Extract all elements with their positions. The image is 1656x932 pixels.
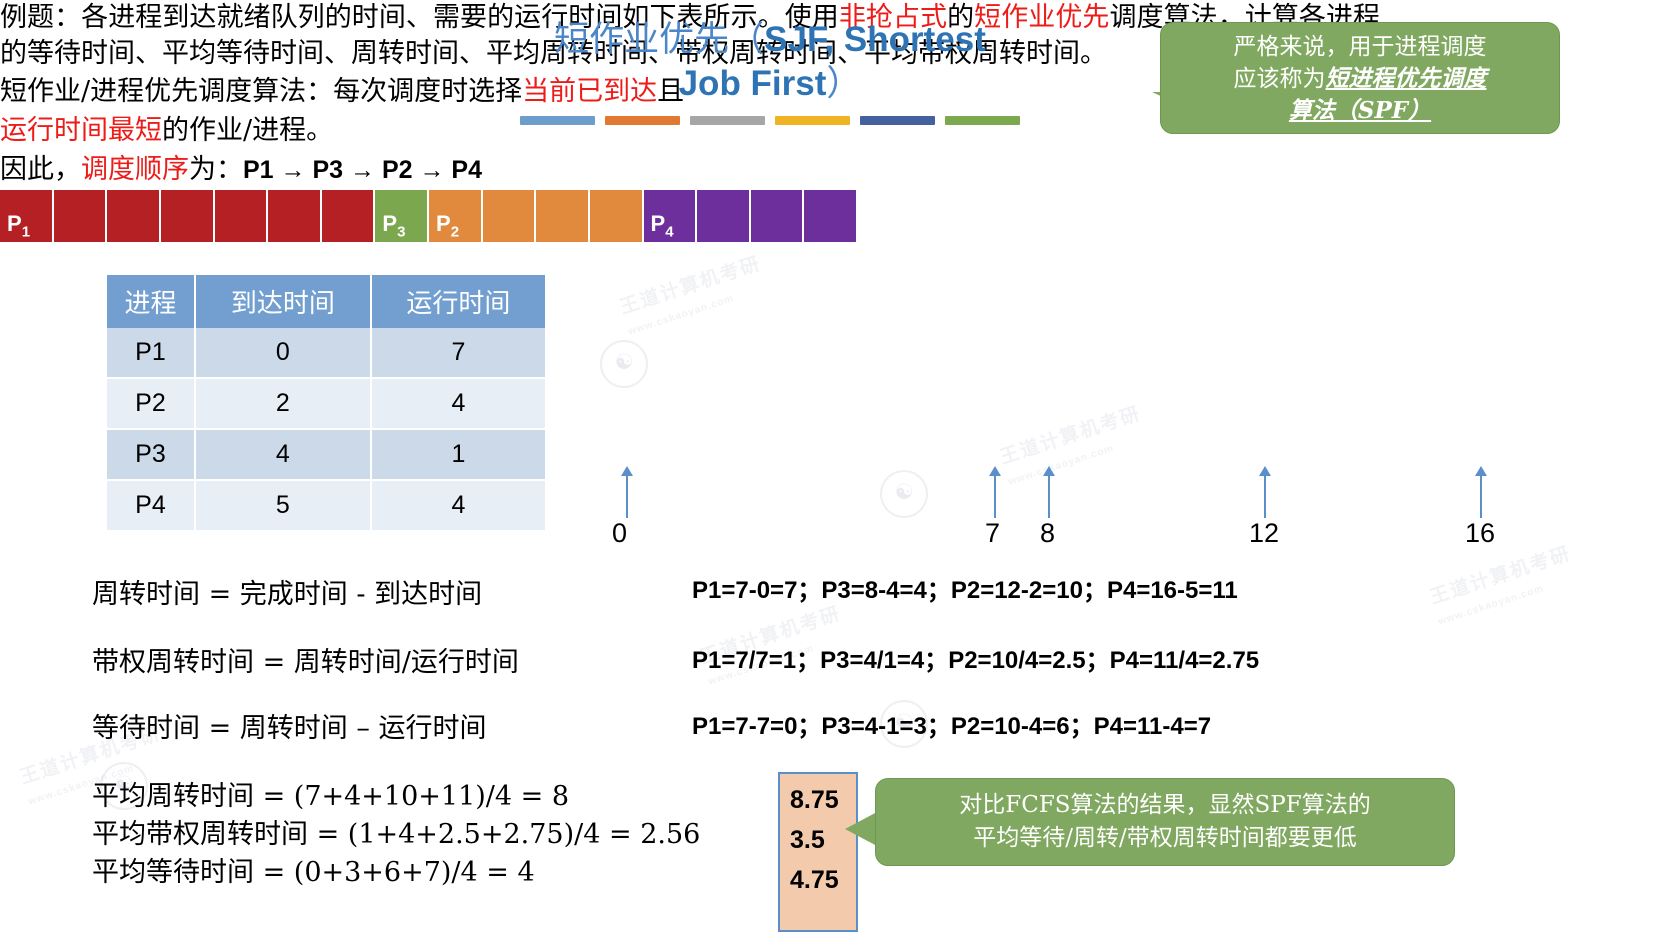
axis-label-7: 7 [985, 518, 1000, 549]
cell-process: P2 [107, 378, 195, 429]
algo-line2-highlight: 运行时间最短 [0, 115, 162, 146]
cell-burst: 4 [371, 480, 545, 531]
algo-schedule-order: P1 → P3 → P2 → P4 [243, 156, 482, 184]
axis-label-0: 0 [612, 518, 627, 549]
calc-waiting: P1=7-7=0；P3=4-1=3；P2=10-4=6；P4=11-4=7 [692, 706, 1211, 741]
table-row: P2 2 4 [107, 378, 545, 429]
process-table: 进程 到达时间 运行时间 P1 0 7 P2 2 4 P3 4 1 P4 5 4 [107, 275, 545, 532]
callout-top-line2-plain: 应该称为 [1234, 66, 1326, 92]
gantt-label-p3: P3 [382, 211, 405, 240]
axis-tick-16 [1480, 474, 1482, 518]
gantt-cell-12: P4 [644, 190, 696, 242]
watermark-seal-icon: ☯ [600, 340, 648, 388]
cell-arrival: 4 [195, 429, 371, 480]
cell-burst: 4 [371, 378, 545, 429]
callout-top: 严格来说，用于进程调度 应该称为短进程优先调度 算法（SPF） [1160, 22, 1560, 134]
title-en-line2: Job First [679, 64, 827, 103]
algo-line3-mid: 为： [189, 154, 243, 185]
gantt-cell-9 [483, 190, 535, 242]
gantt-cell-14 [751, 190, 803, 242]
axis-label-12: 12 [1249, 518, 1279, 549]
rule-bar-3 [690, 116, 765, 125]
formula-avg-turnaround: 平均周转时间 = (7+4+10+11)/4 = 8 [92, 774, 569, 813]
result-values-box: 8.75 3.5 4.75 [778, 772, 858, 932]
table-row: P3 4 1 [107, 429, 545, 480]
gantt-cell-8: P2 [429, 190, 481, 242]
callout-bottom-line1: 对比FCFS算法的结果，显然SPF算法的 [888, 789, 1442, 822]
gantt-cell-3 [161, 190, 213, 242]
col-header-burst: 运行时间 [371, 275, 545, 328]
gantt-cell-2 [107, 190, 159, 242]
algo-line3-highlight: 调度顺序 [81, 154, 189, 185]
gantt-cell-10 [536, 190, 588, 242]
callout-top-line3-emph: 算法（SPF） [1289, 97, 1431, 124]
gantt-cell-6 [322, 190, 374, 242]
gantt-label-p1: P1 [7, 211, 30, 240]
axis-tick-7 [994, 474, 996, 518]
formula-weighted-turnaround: 带权周转时间 = 周转时间/运行时间 [92, 640, 519, 679]
gantt-cell-0: P1 [0, 190, 52, 242]
callout-bottom-tail-icon [845, 812, 877, 846]
algo-line3-prefix: 因此， [0, 154, 81, 185]
cell-arrival: 0 [195, 328, 371, 378]
title-underline-bars [520, 116, 1020, 125]
callout-top-line2-emph: 短进程优先调度 [1326, 65, 1487, 92]
table-header-row: 进程 到达时间 运行时间 [107, 275, 545, 328]
watermark-seal-icon: ☯ [880, 470, 928, 518]
cell-process: P3 [107, 429, 195, 480]
cell-burst: 1 [371, 429, 545, 480]
gantt-cell-5 [268, 190, 320, 242]
callout-top-line1: 严格来说，用于进程调度 [1171, 32, 1549, 63]
rule-bar-5 [860, 116, 935, 125]
gantt-label-p4: P4 [651, 211, 674, 240]
rule-bar-2 [605, 116, 680, 125]
title-cn: 短作业优先（ [554, 20, 764, 60]
gantt-cell-11 [590, 190, 642, 242]
watermark: 王道计算机考研www.cskaoyan.com [616, 248, 771, 340]
axis-label-8: 8 [1040, 518, 1055, 549]
title-cn-close: ） [826, 64, 861, 104]
gantt-cell-7: P3 [375, 190, 427, 242]
rule-bar-4 [775, 116, 850, 125]
cell-process: P1 [107, 328, 195, 378]
formula-waiting: 等待时间 = 周转时间 – 运行时间 [92, 706, 486, 745]
gantt-cell-4 [215, 190, 267, 242]
formula-avg-waiting: 平均等待时间 = (0+3+6+7)/4 = 4 [92, 850, 535, 889]
calc-turnaround: P1=7-0=7；P3=8-4=4；P2=12-2=10；P4=16-5=11 [692, 570, 1238, 605]
cell-burst: 7 [371, 328, 545, 378]
algo-line2-plain: 的作业/进程。 [162, 115, 333, 146]
watermark: 王道计算机考研www.cskaoyan.com [1426, 538, 1581, 630]
cell-arrival: 2 [195, 378, 371, 429]
axis-tick-12 [1264, 474, 1266, 518]
callout-bottom: 对比FCFS算法的结果，显然SPF算法的 平均等待/周转/带权周转时间都要更低 [875, 778, 1455, 866]
page-title: 短作业优先（SJF, Shortest Job First） [430, 18, 1110, 106]
cell-process: P4 [107, 480, 195, 531]
gantt-chart: P1 P3 P2 P4 [0, 190, 856, 242]
callout-bottom-line2: 平均等待/周转/带权周转时间都要更低 [888, 822, 1442, 855]
title-en-line1: SJF, Shortest [764, 20, 986, 59]
col-header-arrival: 到达时间 [195, 275, 371, 328]
table-row: P1 0 7 [107, 328, 545, 378]
formula-avg-weighted-turnaround: 平均带权周转时间 = (1+4+2.5+2.75)/4 = 2.56 [92, 812, 700, 851]
cell-arrival: 5 [195, 480, 371, 531]
gantt-label-p2: P2 [436, 211, 459, 240]
result-value-3: 4.75 [790, 860, 856, 900]
axis-tick-0 [626, 474, 628, 518]
rule-bar-1 [520, 116, 595, 125]
calc-weighted: P1=7/7=1；P3=4/1=4；P2=10/4=2.5；P4=11/4=2.… [692, 640, 1259, 675]
gantt-cell-13 [697, 190, 749, 242]
formula-turnaround: 周转时间 = 完成时间 - 到达时间 [92, 572, 482, 611]
axis-tick-8 [1048, 474, 1050, 518]
rule-bar-6 [945, 116, 1020, 125]
col-header-process: 进程 [107, 275, 195, 328]
watermark: 王道计算机考研www.cskaoyan.com [996, 398, 1151, 490]
gantt-cell-1 [54, 190, 106, 242]
axis-label-16: 16 [1465, 518, 1495, 549]
gantt-cell-15 [804, 190, 856, 242]
table-row: P4 5 4 [107, 480, 545, 531]
